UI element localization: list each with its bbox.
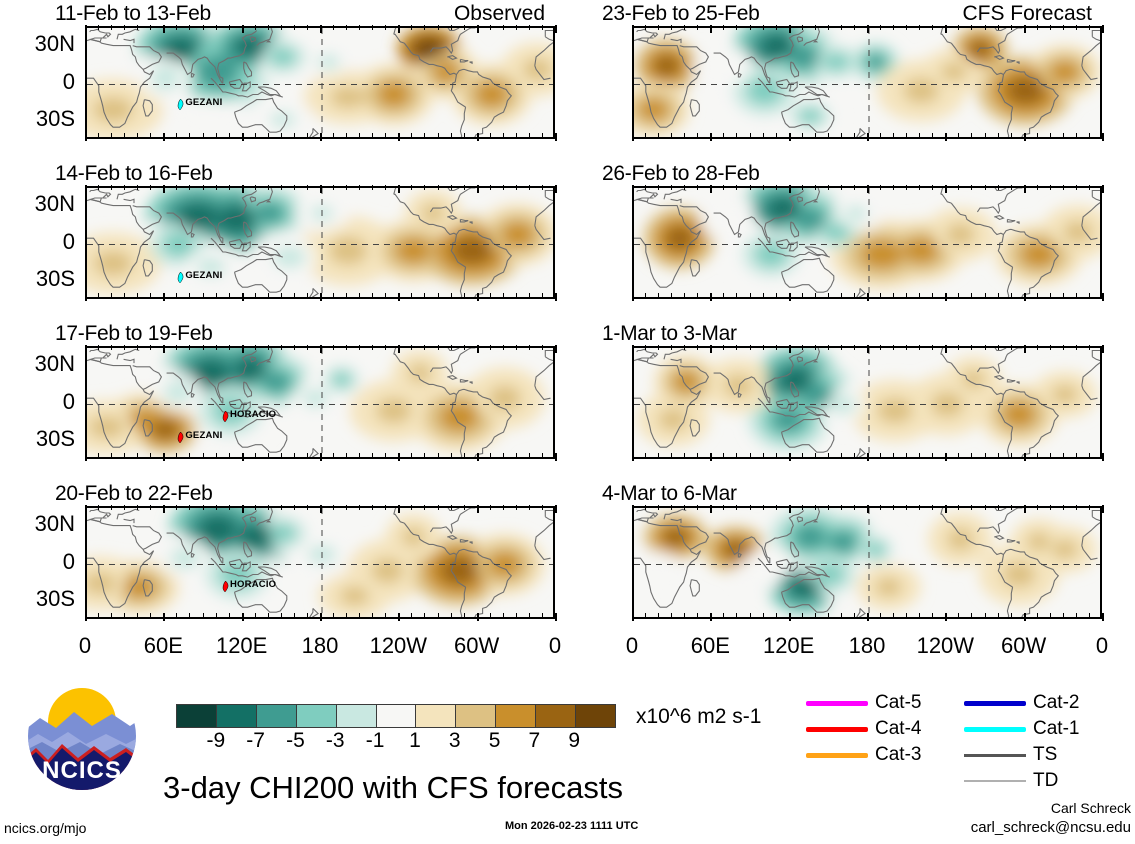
legend-label: TS [1033, 744, 1057, 766]
legend-item: TS [964, 744, 1057, 766]
storm-name-label: GEZANI [185, 97, 222, 108]
legend-color-swatch [806, 727, 868, 732]
legend-color-swatch [806, 701, 868, 706]
author-name: Carl Schreck [1051, 800, 1131, 816]
panel-title: 11-Feb to 13-Feb [55, 2, 211, 26]
legend-color-swatch [806, 753, 868, 758]
axis-ticks [85, 613, 555, 620]
colorbar-tick-label: 9 [544, 729, 604, 753]
map-panel [85, 26, 555, 139]
colorbar-segment [416, 705, 456, 727]
x-axis-tick-label: 180 [822, 633, 912, 659]
storm-name-label: HORACIO [230, 409, 276, 420]
legend-label: Cat-2 [1033, 692, 1079, 714]
colorbar-segment [217, 705, 257, 727]
axis-ticks [632, 505, 1102, 512]
storm-name-label: HORACIO [230, 579, 276, 590]
y-axis-tick-label: 0 [3, 549, 75, 575]
x-axis-tick-label: 60E [118, 633, 208, 659]
ncics-url: ncics.org/mjo [4, 820, 86, 836]
x-axis-tick-label: 180 [275, 633, 365, 659]
panel-corner-label: Observed [454, 2, 545, 26]
map-panel [632, 186, 1102, 299]
legend-item: Cat-5 [806, 692, 921, 714]
y-axis-tick-label: 30S [3, 426, 75, 452]
legend-color-swatch [964, 701, 1026, 706]
colorbar-segment [536, 705, 576, 727]
colorbar-segment [297, 705, 337, 727]
colorbar-segment [496, 705, 536, 727]
y-axis-tick-label: 0 [3, 229, 75, 255]
axis-ticks [632, 133, 1102, 140]
legend-color-swatch [964, 727, 1026, 732]
legend-item: Cat-4 [806, 718, 921, 740]
x-axis-tick-label: 120E [197, 633, 287, 659]
storm-name-label: GEZANI [185, 270, 222, 281]
panel-title: 26-Feb to 28-Feb [602, 162, 759, 186]
legend-item: Cat-1 [964, 718, 1079, 740]
axis-ticks [85, 133, 555, 140]
map-panel [632, 26, 1102, 139]
map-panel [85, 346, 555, 459]
x-axis-tick-label: 120E [744, 633, 834, 659]
legend-item: Cat-3 [806, 744, 921, 766]
colorbar-unit-label: x10^6 m2 s-1 [636, 705, 761, 729]
axis-ticks [632, 185, 1102, 192]
y-axis-tick-label: 30S [3, 106, 75, 132]
axis-ticks [632, 345, 1102, 352]
axis-ticks [85, 25, 555, 32]
map-panel [85, 186, 555, 299]
storm-track-marker [177, 270, 184, 281]
panel-title: 4-Mar to 6-Mar [602, 482, 737, 506]
figure-title: 3-day CHI200 with CFS forecasts [163, 770, 623, 806]
panel-title: 23-Feb to 25-Feb [602, 2, 759, 26]
timestamp: Mon 2026-02-23 1111 UTC [505, 820, 638, 832]
y-axis-tick-label: 30N [3, 191, 75, 217]
axis-ticks [632, 613, 1102, 620]
map-panel [632, 346, 1102, 459]
x-axis-tick-label: 0 [1057, 633, 1135, 659]
y-axis-tick-label: 30S [3, 266, 75, 292]
y-axis-tick-label: 30N [3, 31, 75, 57]
colorbar-segment [257, 705, 297, 727]
storm-track-marker [177, 430, 184, 441]
axis-ticks [632, 453, 1102, 460]
colorbar-segment [177, 705, 217, 727]
legend-label: Cat-1 [1033, 718, 1079, 740]
storm-track-marker [222, 409, 229, 420]
legend-item: TD [964, 770, 1058, 792]
colorbar-segment [456, 705, 496, 727]
x-axis-tick-label: 0 [510, 633, 600, 659]
panel-corner-label: CFS Forecast [962, 2, 1092, 26]
storm-track-marker [222, 579, 229, 590]
legend-color-swatch [964, 780, 1026, 782]
panel-title: 14-Feb to 16-Feb [55, 162, 212, 186]
author-email: carl_schreck@ncsu.edu [971, 819, 1131, 836]
axis-ticks [85, 453, 555, 460]
legend-label: Cat-5 [875, 692, 921, 714]
colorbar-segment [337, 705, 377, 727]
axis-ticks [85, 345, 555, 352]
y-axis-tick-label: 30S [3, 586, 75, 612]
x-axis-tick-label: 60E [665, 633, 755, 659]
x-axis-tick-label: 0 [40, 633, 130, 659]
colorbar [176, 704, 616, 728]
map-panel [85, 506, 555, 619]
y-axis-tick-label: 30N [3, 351, 75, 377]
colorbar-segment [576, 705, 615, 727]
y-axis-tick-label: 0 [3, 69, 75, 95]
storm-track-marker [177, 97, 184, 108]
x-axis-tick-label: 0 [587, 633, 677, 659]
x-axis-tick-label: 120W [900, 633, 990, 659]
svg-text:NCICS: NCICS [42, 757, 122, 784]
panel-title: 17-Feb to 19-Feb [55, 322, 212, 346]
colorbar-segment [377, 705, 417, 727]
ncics-logo: NCICS [22, 682, 142, 790]
legend-color-swatch [964, 754, 1026, 757]
x-axis-tick-label: 60W [432, 633, 522, 659]
legend-label: TD [1033, 770, 1058, 792]
y-axis-tick-label: 30N [3, 511, 75, 537]
legend-item: Cat-2 [964, 692, 1079, 714]
map-panel [632, 506, 1102, 619]
axis-ticks [632, 25, 1102, 32]
legend-label: Cat-4 [875, 718, 921, 740]
storm-name-label: GEZANI [185, 430, 222, 441]
x-axis-tick-label: 120W [353, 633, 443, 659]
legend-label: Cat-3 [875, 744, 921, 766]
panel-title: 1-Mar to 3-Mar [602, 322, 737, 346]
axis-ticks [632, 293, 1102, 300]
axis-ticks [85, 293, 555, 300]
axis-ticks [85, 505, 555, 512]
panel-title: 20-Feb to 22-Feb [55, 482, 212, 506]
x-axis-tick-label: 60W [979, 633, 1069, 659]
y-axis-tick-label: 0 [3, 389, 75, 415]
axis-ticks [85, 185, 555, 192]
